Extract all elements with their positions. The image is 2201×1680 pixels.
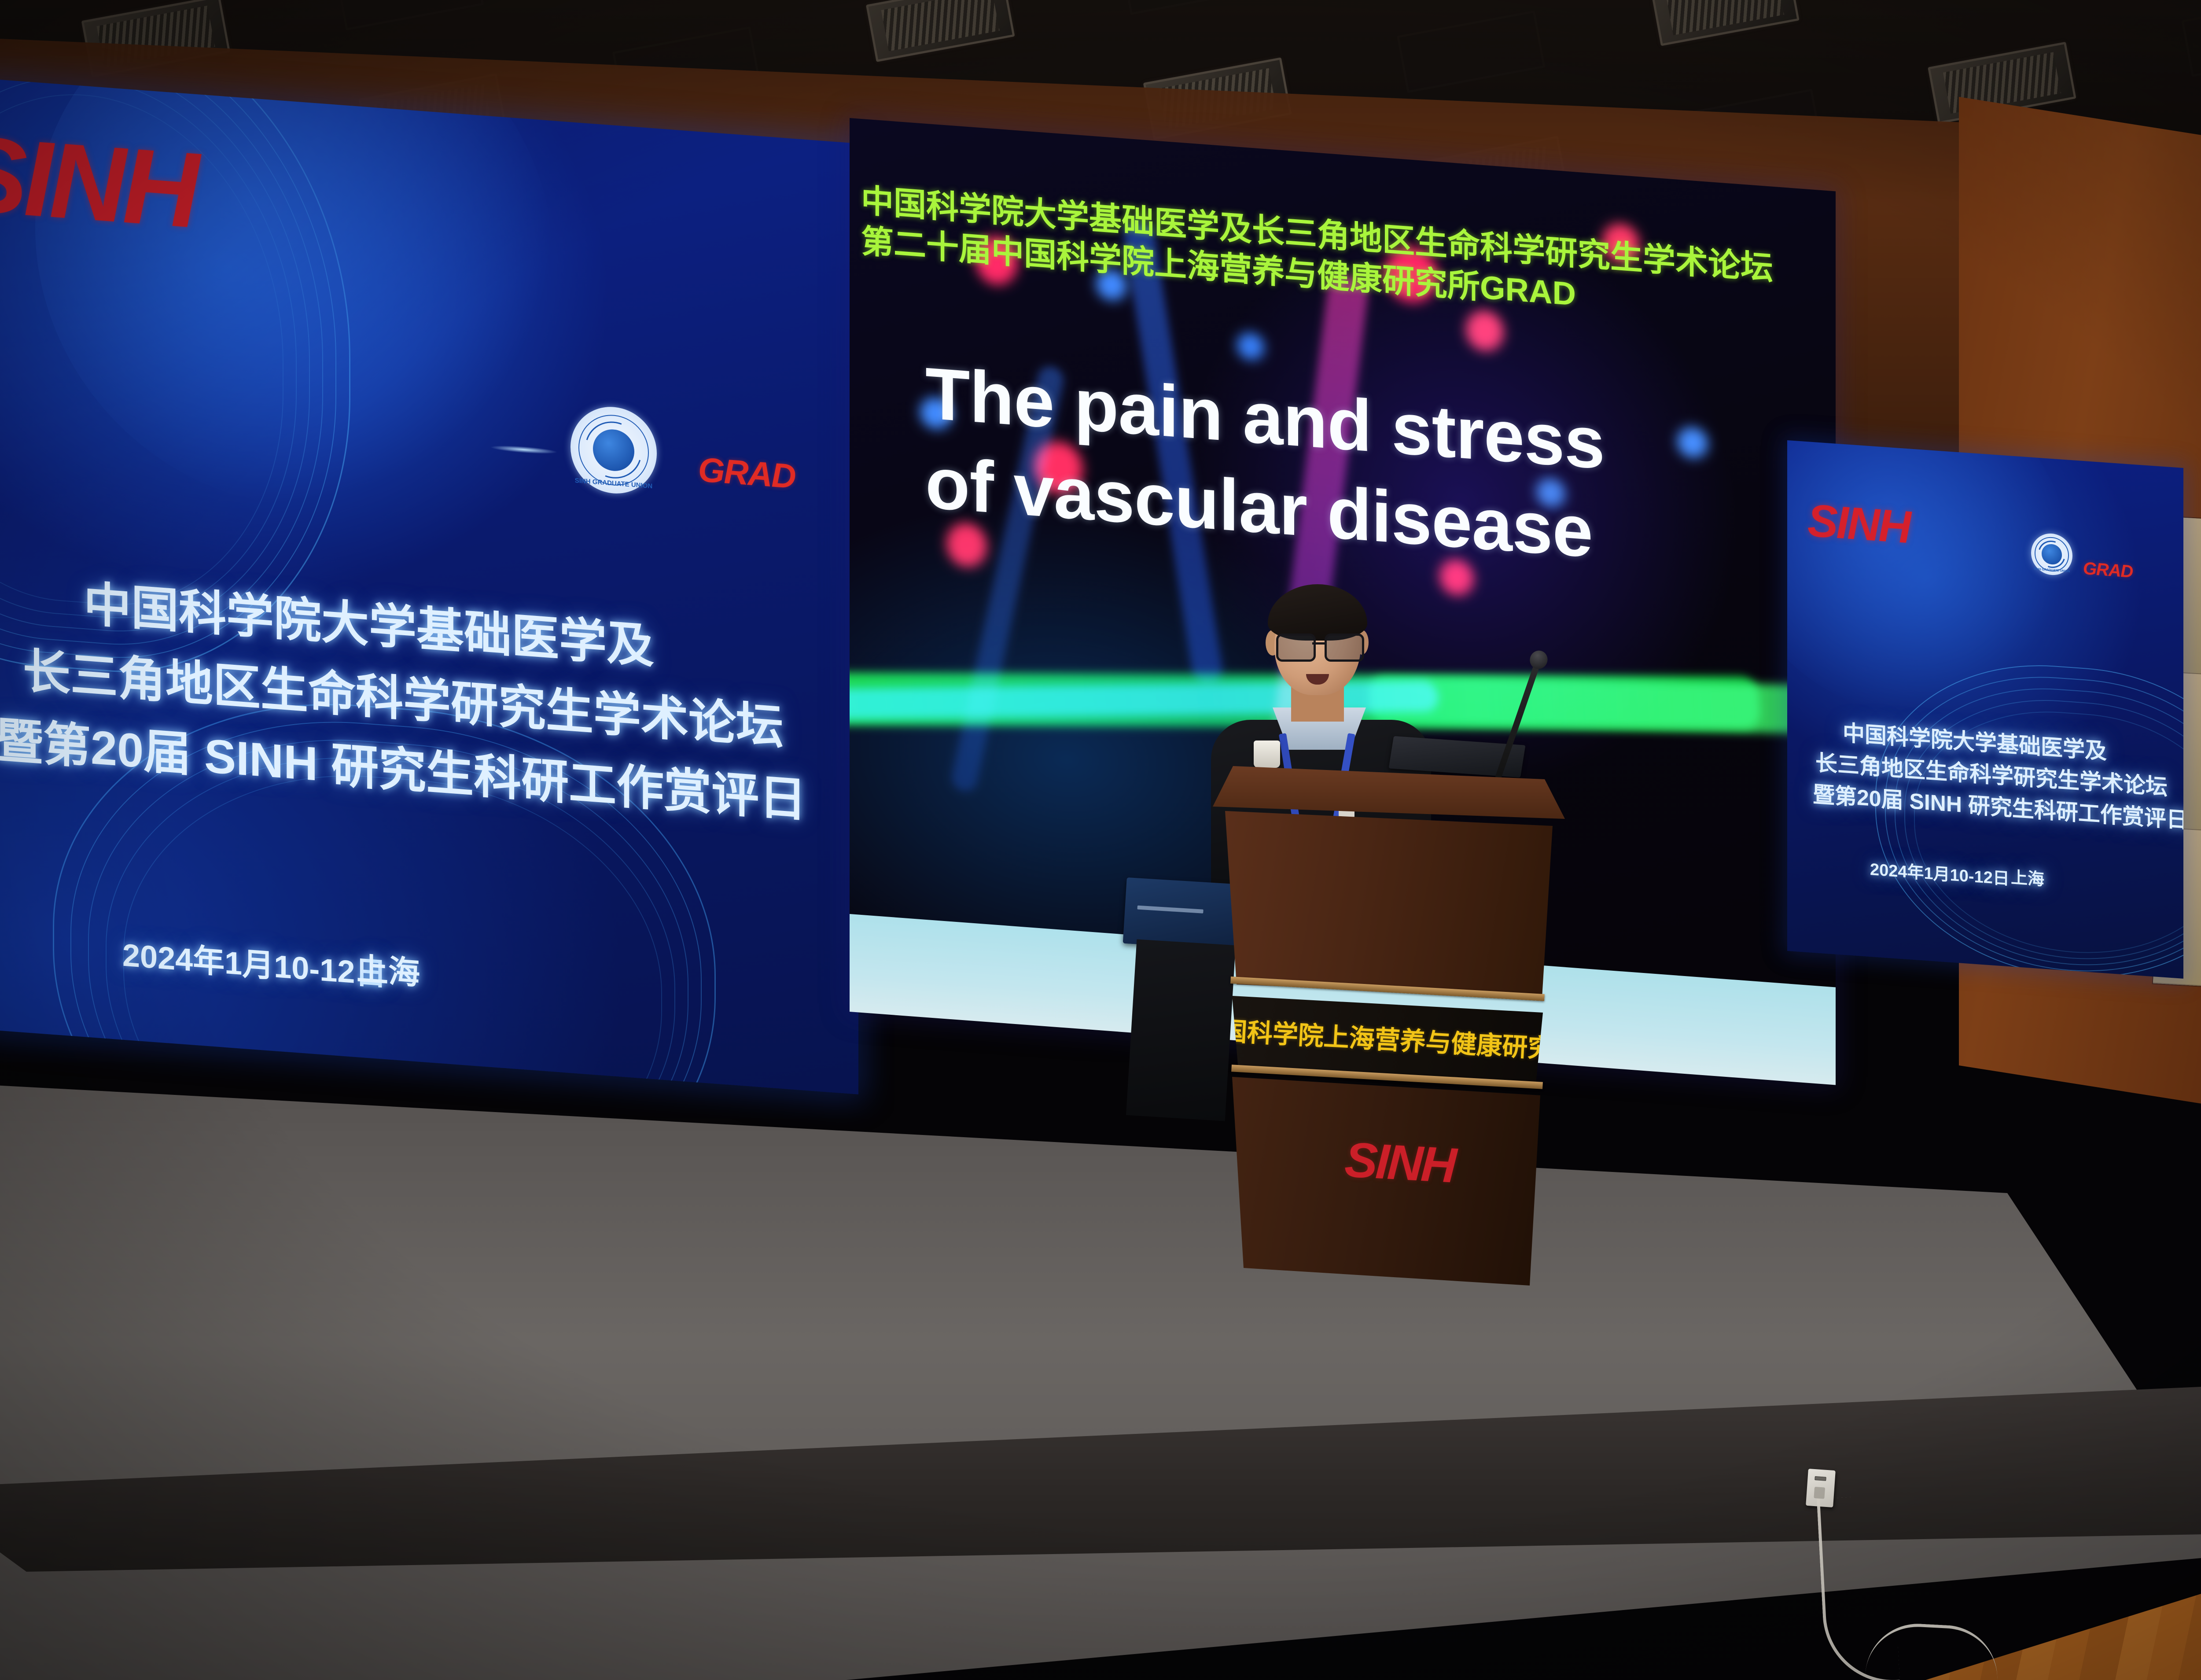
micro-cell-blue (1677, 426, 1708, 459)
confidence-monitor-stand (1126, 939, 1236, 1121)
micro-cell-red (1466, 309, 1504, 352)
sinh-graduate-union-logo-left: SINH GRADUATE UNION (570, 404, 657, 497)
ceiling-light-panel (1651, 0, 1800, 46)
micro-cell-blue (1237, 332, 1264, 361)
sinh-logo-left: SINH (0, 111, 195, 252)
ceiling-light-panel (335, 0, 484, 31)
eyeglasses-icon (1275, 634, 1362, 658)
grad-logo-left: GRAD (698, 449, 795, 497)
right-screen-location: 上海 (2011, 864, 2044, 890)
right-led-screen: SINH SINH GRADUATE UNION GRAD 中国科学院大学基础医… (1787, 440, 2183, 979)
left-led-screen: SINH SINH GRADUATE UNION GRAD 中国科学院大学基础医… (0, 78, 858, 1094)
podium: 中国科学院上海营养与健康研究所 SINH (1213, 766, 1565, 1286)
podium-upper-body (1225, 808, 1553, 998)
speaker-hair (1268, 584, 1367, 641)
podium-sinh-logo: SINH (1343, 1131, 1456, 1194)
ceiling-light-panel (2181, 0, 2201, 77)
ceiling-light-panel (866, 0, 1015, 62)
podium-plaque-text: 中国科学院上海营养与健康研究所 (1195, 1009, 1579, 1067)
grad-logo-right: GRAD (2083, 559, 2133, 582)
ceiling-light-panel (1397, 11, 1546, 93)
auditorium-scene: SINH SINH GRADUATE UNION GRAD 中国科学院大学基础医… (0, 0, 2201, 1680)
water-cup (1254, 741, 1280, 768)
slide-title: The pain and stress of vascular disease (925, 349, 1674, 583)
ceiling-light-panel (1120, 0, 1269, 15)
sinh-logo-right: SINH (1807, 494, 1910, 554)
